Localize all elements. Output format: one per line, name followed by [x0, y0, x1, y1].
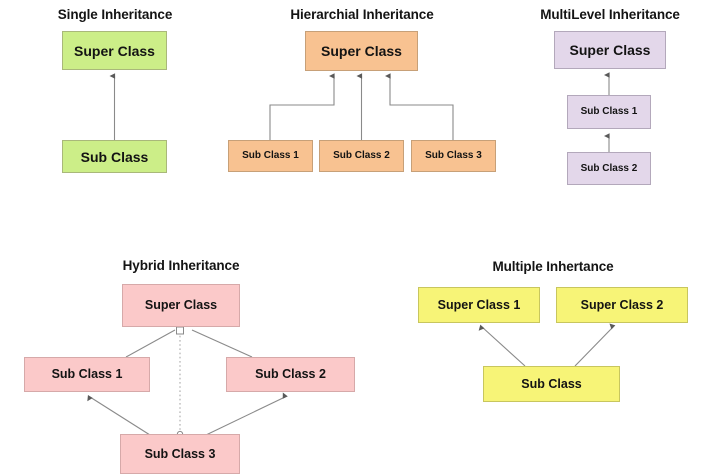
node-multiple-super-class-1[interactable]: Super Class 1 — [418, 287, 540, 323]
node-single-sub-class[interactable]: Sub Class — [62, 140, 167, 173]
node-hybrid-super-class[interactable]: Super Class — [122, 284, 240, 327]
edge-hybrid-sub1-to-super — [126, 330, 175, 357]
title-multiple-inheritance: Multiple Inhertance — [492, 259, 613, 274]
title-hierarchial-inheritance: Hierarchial Inheritance — [290, 7, 433, 22]
edge-hybrid-sub3-to-sub1 — [90, 397, 150, 435]
edge-hierarchial-sub3-to-super — [390, 76, 453, 140]
node-hybrid-sub-class-1[interactable]: Sub Class 1 — [24, 357, 150, 392]
node-multiple-sub-class[interactable]: Sub Class — [483, 366, 620, 402]
node-hierarchial-sub-class-3[interactable]: Sub Class 3 — [411, 140, 496, 172]
title-single-inheritance: Single Inheritance — [58, 7, 172, 22]
edge-multiple-sub-to-super2 — [575, 327, 613, 366]
node-multilevel-super-class[interactable]: Super Class — [554, 31, 666, 69]
title-hybrid-inheritance: Hybrid Inheritance — [123, 258, 240, 273]
edge-hybrid-sub3-to-super-dotted — [177, 327, 184, 437]
node-hybrid-sub-class-2[interactable]: Sub Class 2 — [226, 357, 355, 392]
edge-hybrid-sub3-to-sub2 — [206, 397, 285, 435]
edge-hierarchial-sub1-to-super — [270, 76, 334, 140]
node-multilevel-sub-class-2[interactable]: Sub Class 2 — [567, 152, 651, 185]
inheritance-diagram-canvas: Single Inheritance Super Class Sub Class… — [0, 0, 720, 471]
node-hierarchial-super-class[interactable]: Super Class — [305, 31, 418, 71]
title-multilevel-inheritance: MultiLevel Inheritance — [540, 7, 680, 22]
node-hierarchial-sub-class-2[interactable]: Sub Class 2 — [319, 140, 404, 172]
edge-hybrid-sub2-to-super — [192, 330, 252, 357]
node-multilevel-sub-class-1[interactable]: Sub Class 1 — [567, 95, 651, 129]
node-multiple-super-class-2[interactable]: Super Class 2 — [556, 287, 688, 323]
node-single-super-class[interactable]: Super Class — [62, 31, 167, 70]
edge-multiple-sub-to-super1 — [482, 327, 525, 366]
node-hierarchial-sub-class-1[interactable]: Sub Class 1 — [228, 140, 313, 172]
node-hybrid-sub-class-3[interactable]: Sub Class 3 — [120, 434, 240, 474]
